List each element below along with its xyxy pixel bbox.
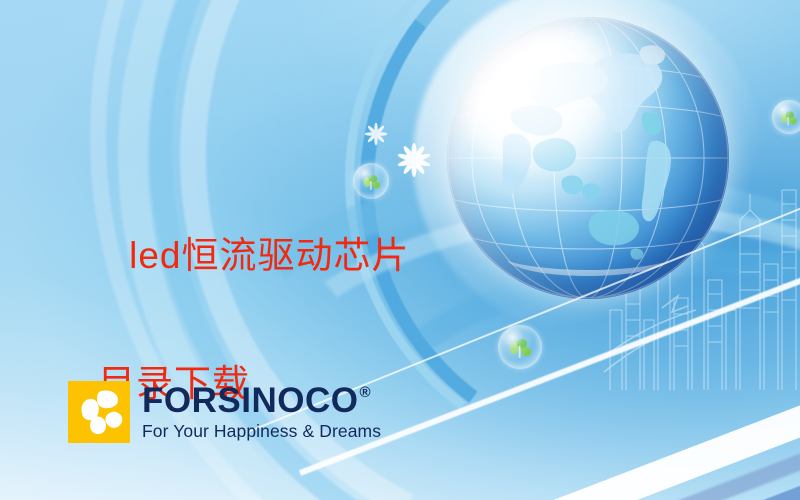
pinwheel-petals [68,381,130,443]
brand-tagline: For Your Happiness & Dreams [142,421,381,441]
promo-banner: led恒流驱动芯片 目录下载 FORSINOCO ® For Your Happ… [0,0,800,500]
soap-bubble-icon [498,325,542,369]
brand-logo: FORSINOCO ® For Your Happiness & Dreams [68,381,381,443]
daisy-starburst-icon [364,122,388,146]
registered-trademark-icon: ® [359,385,371,400]
brand-text: FORSINOCO ® For Your Happiness & Dreams [142,381,381,441]
bubble-surface [498,325,542,369]
headline: led恒流驱动芯片 目录下载 [84,160,504,500]
headline-line-1: led恒流驱动芯片 [129,235,409,276]
soap-bubble-icon [772,100,800,134]
bubble-surface [772,100,800,134]
pinwheel-flower-icon [68,381,130,443]
brand-name: FORSINOCO [142,382,358,420]
brand-name-row: FORSINOCO ® [142,382,381,420]
